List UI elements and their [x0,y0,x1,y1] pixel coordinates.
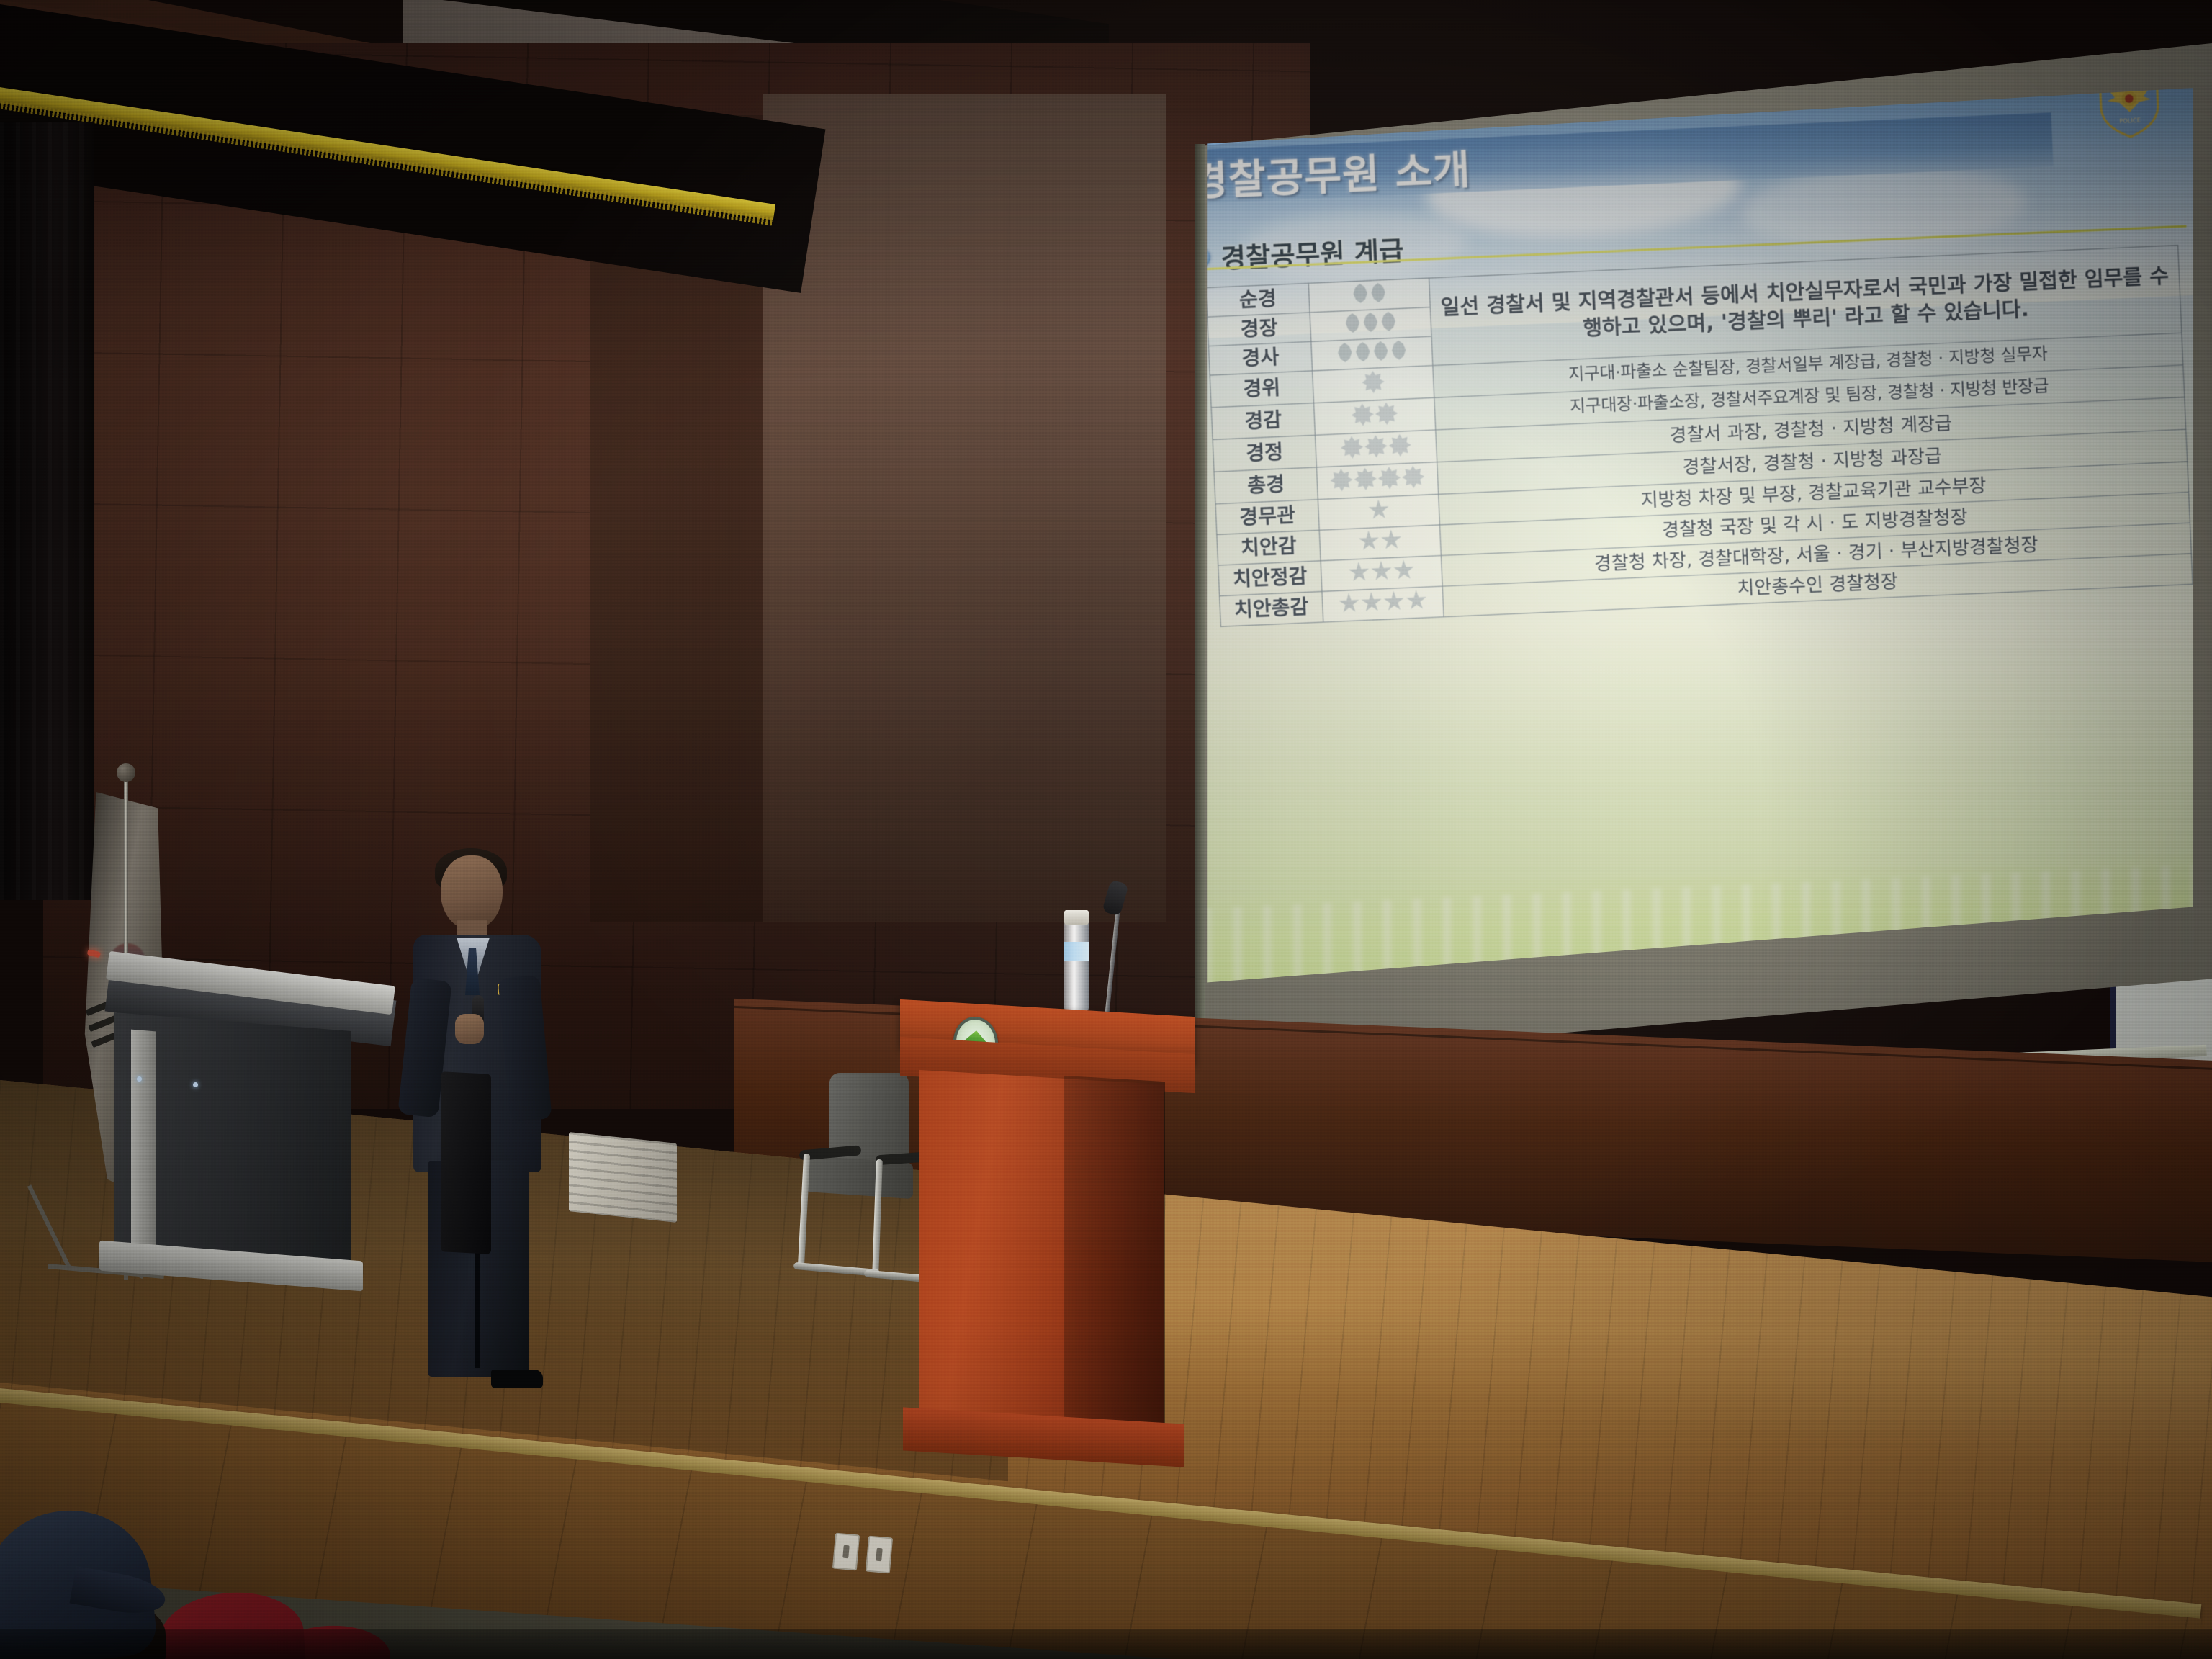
rank-insignia-cell [1314,397,1436,435]
chair-leg [798,1154,810,1269]
rank-insignia-star [1383,590,1405,612]
rank-name: 경장 [1208,313,1311,346]
rank-insignia-cell [1318,494,1439,530]
rank-insignia-star [1348,562,1370,583]
rank-insignia-leaf [1380,311,1397,331]
wall-outlet[interactable] [866,1536,893,1574]
rank-insignia-cell [1316,462,1438,500]
rank-insignia-cell [1315,430,1437,467]
bottle-label [1064,942,1089,961]
rank-name: 경사 [1208,341,1312,375]
slide-title: 경찰공무원 소개 [1207,136,1472,207]
rank-insignia-rose [1354,467,1377,491]
rank-insignia-cell [1319,525,1441,561]
bottle-cap [1064,910,1089,925]
police-rank-table: 순경일선 경찰서 및 지역경찰관서 등에서 치안실무자로서 국민과 가장 밀접한… [1207,245,2193,627]
rank-insignia-leaf [1370,282,1387,302]
presenter-shoe [491,1370,543,1388]
rank-insignia-star [1338,593,1359,614]
podium-side-face [1064,1076,1165,1427]
rank-name: 치안감 [1217,530,1321,565]
rank-insignia-cell [1313,366,1434,403]
rank-insignia-rose [1402,465,1426,489]
flag-finial [117,763,135,782]
presenter-hand [455,1014,484,1044]
wall-outlet[interactable] [832,1533,860,1571]
side-curtain [0,122,94,900]
rank-insignia-rose [1351,403,1375,427]
rank-name: 경위 [1210,371,1313,408]
rank-insignia-star [1358,530,1380,552]
rank-insignia-leaf [1390,340,1408,360]
bullet-dot-icon [1207,248,1210,268]
rank-name: 순경 [1207,283,1310,317]
rank-insignia-star [1393,559,1415,581]
presenter-head [441,855,503,930]
curtain-folds [0,122,94,900]
heater-grill [569,1132,677,1223]
rank-insignia-leaf [1362,312,1379,332]
slide-section-label: 경찰공무원 계급 [1220,229,1404,276]
rank-insignia-star [1368,499,1390,521]
lectern-led [193,1082,198,1087]
rank-insignia-cell [1322,586,1444,622]
rank-insignia-rose [1330,468,1354,492]
rank-name: 총경 [1214,467,1318,504]
rank-insignia-rose [1375,402,1398,426]
rank-insignia-rose [1388,433,1412,457]
rank-insignia-leaf [1352,283,1369,303]
svg-text:POLICE: POLICE [2119,117,2141,125]
rank-insignia-rose [1340,436,1364,459]
rank-insignia-star [1380,529,1402,551]
rank-name: 경무관 [1215,500,1319,535]
foreground-shadow [0,1629,2212,1659]
photo-scene: 경찰공무원 소개 POLICE 경찰공무원 계급 순경일선 경찰서 및 지역경찰… [0,0,2212,1659]
rank-insignia-cell [1321,556,1442,592]
rank-name: 치안정감 [1218,561,1322,596]
rank-insignia-leaf [1344,313,1361,333]
rank-insignia-rose [1362,370,1385,394]
screen-left-edge [1195,144,1205,1044]
water-bottle[interactable] [1064,920,1089,1011]
rank-insignia-rose [1364,435,1388,459]
rank-name: 경정 [1213,435,1316,472]
rank-insignia-rose [1377,467,1401,490]
rank-name: 치안총감 [1220,591,1323,626]
korean-police-emblem: POLICE [2095,88,2163,140]
lectern-accent-strip [131,1030,156,1262]
wooden-podium [900,1008,1202,1491]
rank-insignia-leaf [1372,341,1390,361]
lectern-led [137,1076,142,1082]
floor-heater-unit [569,1132,677,1223]
grey-lectern [207,968,452,1307]
rank-insignia-star [1406,590,1427,611]
rank-insignia-leaf [1354,341,1372,361]
rank-insignia-star [1361,591,1382,613]
rank-name: 경감 [1211,403,1315,440]
projection-screen: 경찰공무원 소개 POLICE 경찰공무원 계급 순경일선 경찰서 및 지역경찰… [1195,43,2212,1094]
presentation-slide: 경찰공무원 소개 POLICE 경찰공무원 계급 순경일선 경찰서 및 지역경찰… [1207,88,2193,988]
rank-insignia-star [1370,560,1392,582]
rank-insignia-leaf [1336,343,1354,363]
